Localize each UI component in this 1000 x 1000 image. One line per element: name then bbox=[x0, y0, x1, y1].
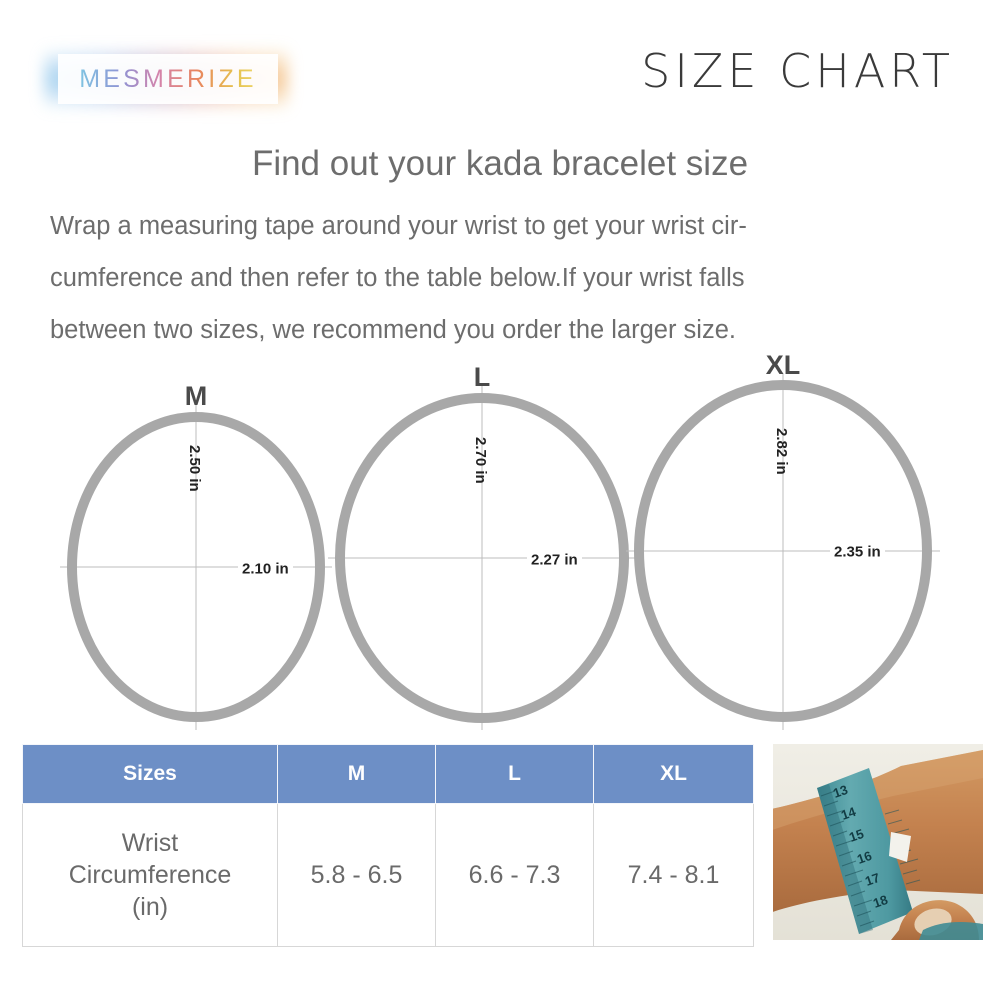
cell-xl: 7.4 - 8.1 bbox=[594, 804, 754, 947]
size-chart-page: MESMERIZE SIZE CHART Find out your kada … bbox=[0, 0, 1000, 1000]
row-label-line-3: (in) bbox=[24, 891, 276, 923]
cell-m: 5.8 - 6.5 bbox=[278, 804, 436, 947]
dim-width-m: 2.10 in bbox=[238, 561, 293, 578]
wrist-measurement-photo: 13 14 15 16 17 18 bbox=[773, 744, 983, 940]
bracelet-diagrams: M L XL 2.50 in 2.70 in 2.82 in 2.10 in 2… bbox=[0, 0, 1000, 745]
table-row: Wrist Circumference (in) 5.8 - 6.5 6.6 -… bbox=[23, 804, 754, 947]
oval-label-l: L bbox=[474, 362, 491, 393]
table-header-l: L bbox=[436, 745, 594, 804]
size-table: Sizes M L XL Wrist Circumference (in) 5.… bbox=[22, 744, 754, 947]
row-label-line-2: Circumference bbox=[24, 859, 276, 891]
row-label-line-1: Wrist bbox=[24, 827, 276, 859]
oval-label-m: M bbox=[185, 381, 208, 412]
dim-height-m: 2.50 in bbox=[186, 445, 203, 492]
table-header-row: Sizes M L XL bbox=[23, 745, 754, 804]
wrist-photo-illustration: 13 14 15 16 17 18 bbox=[773, 744, 983, 940]
dim-height-xl: 2.82 in bbox=[773, 428, 790, 475]
table-header-xl: XL bbox=[594, 745, 754, 804]
ovals-svg bbox=[0, 0, 1000, 745]
oval-label-xl: XL bbox=[766, 350, 801, 381]
cell-l: 6.6 - 7.3 bbox=[436, 804, 594, 947]
row-label-wrist-circumference: Wrist Circumference (in) bbox=[23, 804, 278, 947]
dim-width-xl: 2.35 in bbox=[830, 544, 885, 561]
table-header-m: M bbox=[278, 745, 436, 804]
table-header-sizes: Sizes bbox=[23, 745, 278, 804]
dim-height-l: 2.70 in bbox=[472, 437, 489, 484]
dim-width-l: 2.27 in bbox=[527, 552, 582, 569]
